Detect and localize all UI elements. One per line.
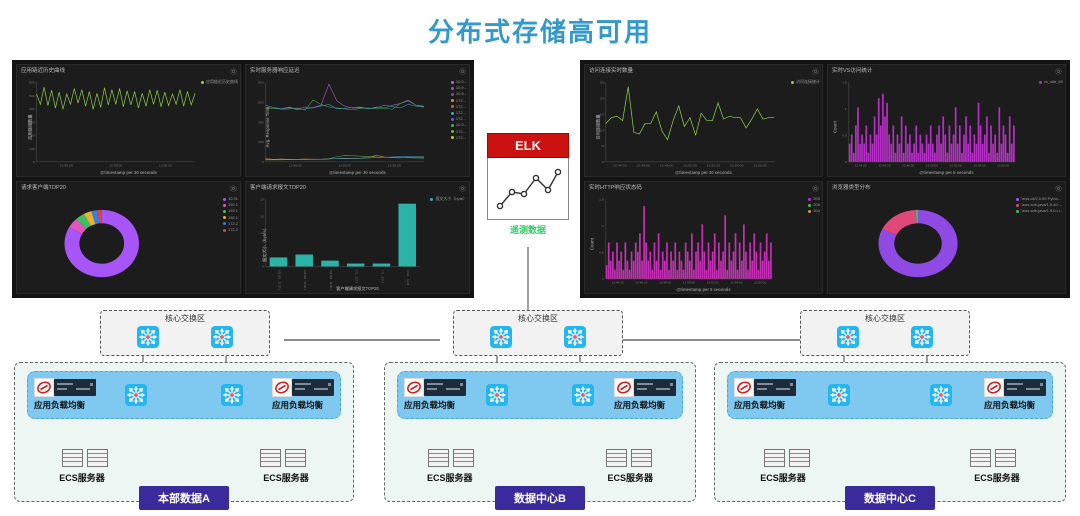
switch-icon[interactable] <box>564 326 586 348</box>
legend: 10.9...10.9...10.9...172...172...172...1… <box>451 79 467 141</box>
svg-text:12:50:00: 12:50:00 <box>338 163 351 167</box>
switch-icon[interactable] <box>930 384 952 406</box>
panel-title: 浏览器类型分布 <box>828 182 1065 192</box>
legend-label: 报文大小（byte） <box>435 196 467 202</box>
svg-text:12:55:00: 12:55:00 <box>388 163 401 167</box>
svg-text:12:50:00: 12:50:00 <box>683 281 695 285</box>
panel-title: 访问连接实时数量 <box>585 65 822 75</box>
switch-icon[interactable] <box>828 384 850 406</box>
panel-title: 客户端请求报文TOP20 <box>246 182 469 192</box>
svg-text:12:46:00: 12:46:00 <box>635 281 647 285</box>
svg-text:800: 800 <box>258 81 264 85</box>
svg-text:12:54:00: 12:54:00 <box>730 164 744 168</box>
ecs-label-right: ECS服务器 <box>246 471 326 484</box>
svg-text:0: 0 <box>262 160 264 164</box>
svg-text:12:46:00: 12:46:00 <box>878 164 890 168</box>
svg-text:15: 15 <box>260 214 264 218</box>
switch-icon[interactable] <box>911 326 933 348</box>
load-balancer-label: 应用负载均衡 <box>34 399 96 411</box>
elk-chart-box <box>487 158 569 220</box>
ecs-label-left: ECS服务器 <box>410 471 490 484</box>
legend-item[interactable]: "aws-sdk-java/1.9.0 Li... <box>1016 208 1063 214</box>
panel-plot <box>17 194 240 293</box>
svg-text:0: 0 <box>602 277 604 281</box>
load-balancer-node[interactable]: 应用负载均衡 <box>404 378 466 411</box>
svg-text:600: 600 <box>29 81 35 85</box>
gear-icon[interactable] <box>812 185 819 192</box>
switch-icon[interactable] <box>221 384 243 406</box>
svg-text:20: 20 <box>260 198 264 202</box>
server-appliance-icon <box>1004 379 1046 396</box>
datacenter-0-tag: 本部数据A <box>139 486 229 510</box>
svg-text:12:44:00: 12:44:00 <box>855 164 867 168</box>
server-rack-icon <box>970 449 991 467</box>
svg-text:12:44:00: 12:44:00 <box>612 281 624 285</box>
svg-text:200: 200 <box>258 140 264 144</box>
core-zone-1-label: 核心交换区 <box>454 311 622 324</box>
svg-text:400: 400 <box>29 107 35 111</box>
y-axis-label: Count <box>833 120 838 132</box>
legend: vs_site_80 <box>1039 79 1063 85</box>
svg-text:400: 400 <box>258 120 264 124</box>
core-zone-2: 核心交换区 <box>800 310 970 356</box>
x-axis-label: @timestamp per 30 seconds <box>246 170 469 175</box>
legend: 应用链近历史曲线 <box>201 79 238 85</box>
svg-text:172... 207.8: 172... 207.8 <box>355 270 359 284</box>
dashboard-panel[interactable]: 浏览器类型分布"aws-cli/2.0.59 Pytho..."aws-sdk-… <box>827 181 1066 294</box>
server-rack-icon <box>995 449 1016 467</box>
legend: "aws-cli/2.0.59 Pytho..."aws-sdk-java/1.… <box>1016 196 1063 215</box>
svg-text:1.5: 1.5 <box>599 198 604 202</box>
app-logo-icon <box>734 378 754 397</box>
legend-label: 应用链近历史曲线 <box>206 79 238 85</box>
load-balancer-node[interactable]: 应用负载均衡 <box>614 378 676 411</box>
svg-text:12:52:00: 12:52:00 <box>707 281 719 285</box>
svg-text:1: 1 <box>602 224 604 228</box>
svg-text:25: 25 <box>600 81 604 85</box>
server-rack-icon <box>62 449 83 467</box>
switch-icon[interactable] <box>572 384 594 406</box>
svg-text:12:50:00: 12:50:00 <box>109 163 122 167</box>
dashboard-panel[interactable]: 实时服务器响应延迟020040060080012:45:0012:50:0012… <box>245 64 470 177</box>
ecs-label-right: ECS服务器 <box>590 471 670 484</box>
svg-text:0: 0 <box>845 160 847 164</box>
server-rack-icon <box>764 449 785 467</box>
svg-text:12:55:00: 12:55:00 <box>159 163 172 167</box>
dashboard-panel[interactable]: 访问连接实时数量051015202512:44:0012:46:0012:48:… <box>584 64 823 177</box>
svg-text:500: 500 <box>29 94 35 98</box>
ecs-label-right: ECS服务器 <box>957 471 1037 484</box>
server-rack-icon <box>428 449 449 467</box>
panel-title: 应用链近历史曲线 <box>17 65 240 75</box>
svg-text:12:46:00: 12:46:00 <box>636 164 650 168</box>
datacenter-1: 应用负载均衡应用负载均衡ECS服务器ECS服务器 <box>384 362 696 502</box>
svg-text:100: 100 <box>29 147 35 151</box>
y-axis-label: Count <box>590 237 595 249</box>
app-logo-icon <box>404 378 424 397</box>
server-rack-icon <box>87 449 108 467</box>
gear-icon[interactable] <box>1055 68 1062 75</box>
load-balancer-node[interactable]: 应用负载均衡 <box>272 378 334 411</box>
svg-text:12:48:00: 12:48:00 <box>660 164 674 168</box>
svg-text:1.5: 1.5 <box>842 81 847 85</box>
gear-icon[interactable] <box>230 68 237 75</box>
datacenter-1-tag: 数据中心B <box>495 486 585 510</box>
ecs-group-left <box>764 449 810 467</box>
app-logo-icon <box>34 378 54 397</box>
legend: 200206404 <box>808 196 820 215</box>
legend-item[interactable]: 应用链近历史曲线 <box>201 79 238 85</box>
panel-title: 实时HTTP响应状态码 <box>585 182 822 192</box>
panel-title: 请求客户端TOP20 <box>17 182 240 192</box>
switch-icon[interactable] <box>490 326 512 348</box>
server-rack-icon <box>285 449 306 467</box>
lb-band: 应用负载均衡应用负载均衡 <box>397 371 683 419</box>
legend-item[interactable]: 172... <box>451 135 467 141</box>
x-axis-label: @timestamp per 30 seconds <box>17 170 240 175</box>
svg-text:12:52:00: 12:52:00 <box>707 164 721 168</box>
legend-item[interactable]: vs_site_80 <box>1039 79 1063 85</box>
svg-text:0: 0 <box>33 160 35 164</box>
svg-text:5: 5 <box>602 144 604 148</box>
line-chart-icon <box>488 158 568 218</box>
dashboard-panel[interactable]: 应用链近历史曲线010020030040050060012:45:0012:50… <box>16 64 241 177</box>
panel-title: 实时VS访问统计 <box>828 65 1065 75</box>
gear-icon[interactable] <box>459 185 466 192</box>
server-appliance-icon <box>424 379 466 396</box>
app-logo-icon <box>614 378 634 397</box>
core-zone-0-label: 核心交换区 <box>101 311 269 324</box>
svg-text:12:45:00: 12:45:00 <box>289 163 302 167</box>
panel-plot: 020040060080012:45:0012:50:0012:55:00@ti… <box>246 77 469 176</box>
legend: 访问连接统计 <box>791 79 820 85</box>
switch-icon[interactable] <box>486 384 508 406</box>
ecs-label-left: ECS服务器 <box>743 471 823 484</box>
ecs-group-right <box>970 449 1016 467</box>
load-balancer-label: 应用负载均衡 <box>272 399 334 411</box>
legend-label: "aws-sdk-java/1.9.0 Li... <box>1021 208 1063 214</box>
x-axis-label: @timestamp per 5 seconds <box>828 170 1065 175</box>
lb-band: 应用负载均衡应用负载均衡 <box>727 371 1053 419</box>
panel-plot: 00.511.512:44:0012:46:0012:48:0012:50:00… <box>828 77 1065 176</box>
gear-icon[interactable] <box>230 185 237 192</box>
y-axis-label: Avg. Response Time <box>265 106 270 147</box>
ecs-group-right <box>260 449 306 467</box>
load-balancer-label: 应用负载均衡 <box>614 399 676 411</box>
svg-text:12:56:00: 12:56:00 <box>754 281 766 285</box>
x-axis-label: @timestamp per 30 seconds <box>585 170 822 175</box>
x-axis-label: 客户端请求报文TOP20 <box>246 286 469 292</box>
gear-icon[interactable] <box>812 68 819 75</box>
core-zone-2-label: 核心交换区 <box>801 311 969 324</box>
elk-node: ELK 遥测数据 <box>487 133 569 236</box>
ecs-label-left: ECS服务器 <box>42 471 122 484</box>
lb-band: 应用负载均衡应用负载均衡 <box>27 371 341 419</box>
server-rack-icon <box>606 449 627 467</box>
switch-icon[interactable] <box>137 326 159 348</box>
y-axis-label: 访问连接数量 <box>596 114 602 139</box>
legend-item[interactable]: 报文大小（byte） <box>430 196 467 202</box>
legend-label: 访问连接统计 <box>796 79 820 85</box>
ecs-group-left <box>428 449 474 467</box>
dashboard-panel[interactable]: 实时HTTP响应状态码00.511.512:44:0012:46:0012:48… <box>584 181 823 294</box>
dashboard-right: 访问连接实时数量051015202512:44:0012:46:0012:48:… <box>580 60 1070 298</box>
load-balancer-label: 应用负载均衡 <box>404 399 466 411</box>
dashboard-panel[interactable]: 客户端请求报文TOP2005101520192.168... 21.87.119… <box>245 181 470 294</box>
dashboard-left: 应用链近历史曲线010020030040050060012:45:0012:50… <box>12 60 474 298</box>
ecs-group-right <box>606 449 652 467</box>
svg-text:12:50:00: 12:50:00 <box>683 164 697 168</box>
legend: 10.91192.1192.1192.1172.2172.2 <box>223 196 238 233</box>
load-balancer-node[interactable]: 应用负载均衡 <box>984 378 1046 411</box>
gear-icon[interactable] <box>1055 185 1062 192</box>
panel-title: 实时服务器响应延迟 <box>246 65 469 75</box>
legend-item[interactable]: 404 <box>808 208 820 214</box>
panel-plot: 010020030040050060012:45:0012:50:0012:55… <box>17 77 240 176</box>
legend-item[interactable]: 172.2 <box>223 227 238 233</box>
dashboard-panel[interactable]: 实时VS访问统计00.511.512:44:0012:46:0012:48:00… <box>827 64 1066 177</box>
server-appliance-icon <box>634 379 676 396</box>
dashboard-panel[interactable]: 请求客户端TOP2010.91192.1192.1192.1172.2172.2 <box>16 181 241 294</box>
datacenter-2-tag: 数据中心C <box>845 486 935 510</box>
telemetry-label: 遥测数据 <box>487 223 569 236</box>
legend-label: 172.2 <box>228 227 238 233</box>
svg-text:12:52:00: 12:52:00 <box>950 164 962 168</box>
switch-icon[interactable] <box>211 326 233 348</box>
server-rack-icon <box>453 449 474 467</box>
ecs-group-left <box>62 449 108 467</box>
core-zone-1: 核心交换区 <box>453 310 623 356</box>
load-balancer-node[interactable]: 应用负载均衡 <box>34 378 96 411</box>
y-axis-label: 报文大小（bytes） <box>262 225 268 261</box>
datacenter-2: 应用负载均衡应用负载均衡ECS服务器ECS服务器 <box>714 362 1066 502</box>
core-zone-0: 核心交换区 <box>100 310 270 356</box>
gear-icon[interactable] <box>459 68 466 75</box>
load-balancer-label: 应用负载均衡 <box>984 399 1046 411</box>
server-appliance-icon <box>754 379 796 396</box>
legend-label: vs_site_80 <box>1044 79 1063 85</box>
switch-icon[interactable] <box>125 384 147 406</box>
page-title: 分布式存储高可用 <box>0 12 1080 49</box>
x-axis-label: @timestamp per 5 seconds <box>585 287 822 292</box>
legend: 报文大小（byte） <box>430 196 467 202</box>
legend-item[interactable]: 访问连接统计 <box>791 79 820 85</box>
server-appliance-icon <box>54 379 96 396</box>
legend-label: 404 <box>813 208 820 214</box>
svg-text:12:45:00: 12:45:00 <box>60 163 73 167</box>
svg-text:1: 1 <box>845 107 847 111</box>
svg-text:0: 0 <box>602 160 604 164</box>
svg-text:20: 20 <box>600 97 604 101</box>
server-appliance-icon <box>292 379 334 396</box>
app-logo-icon <box>272 378 292 397</box>
svg-text:12:50:00: 12:50:00 <box>926 164 938 168</box>
load-balancer-node[interactable]: 应用负载均衡 <box>734 378 796 411</box>
server-rack-icon <box>260 449 281 467</box>
svg-text:12:44:00: 12:44:00 <box>613 164 627 168</box>
svg-text:12:56:00: 12:56:00 <box>753 164 767 168</box>
svg-text:12:56:00: 12:56:00 <box>997 164 1009 168</box>
elk-label: ELK <box>487 133 569 158</box>
switch-icon[interactable] <box>837 326 859 348</box>
svg-text:600: 600 <box>258 101 264 105</box>
datacenter-0: 应用负载均衡应用负载均衡ECS服务器ECS服务器 <box>14 362 354 502</box>
svg-text:0.5: 0.5 <box>599 251 604 255</box>
panel-plot: 00.511.512:44:0012:46:0012:48:0012:50:00… <box>585 194 822 293</box>
panel-plot: 051015202512:44:0012:46:0012:48:0012:50:… <box>585 77 822 176</box>
panel-plot: 05101520192.168... 21.87.1192.168... 21.… <box>246 194 469 293</box>
svg-text:12:48:00: 12:48:00 <box>659 281 671 285</box>
svg-text:172... 207.0: 172... 207.0 <box>380 270 384 284</box>
legend-label: 172... <box>456 135 466 141</box>
server-rack-icon <box>789 449 810 467</box>
svg-text:10.91... 3.108: 10.91... 3.108 <box>406 270 410 286</box>
y-axis-label: 应用链接数量 <box>28 114 34 139</box>
svg-text:12:48:00: 12:48:00 <box>902 164 914 168</box>
svg-text:0: 0 <box>262 265 264 269</box>
server-rack-icon <box>631 449 652 467</box>
app-logo-icon <box>984 378 1004 397</box>
svg-text:0.5: 0.5 <box>842 134 847 138</box>
svg-text:12:54:00: 12:54:00 <box>730 281 742 285</box>
svg-text:12:54:00: 12:54:00 <box>973 164 985 168</box>
load-balancer-label: 应用负载均衡 <box>734 399 796 411</box>
